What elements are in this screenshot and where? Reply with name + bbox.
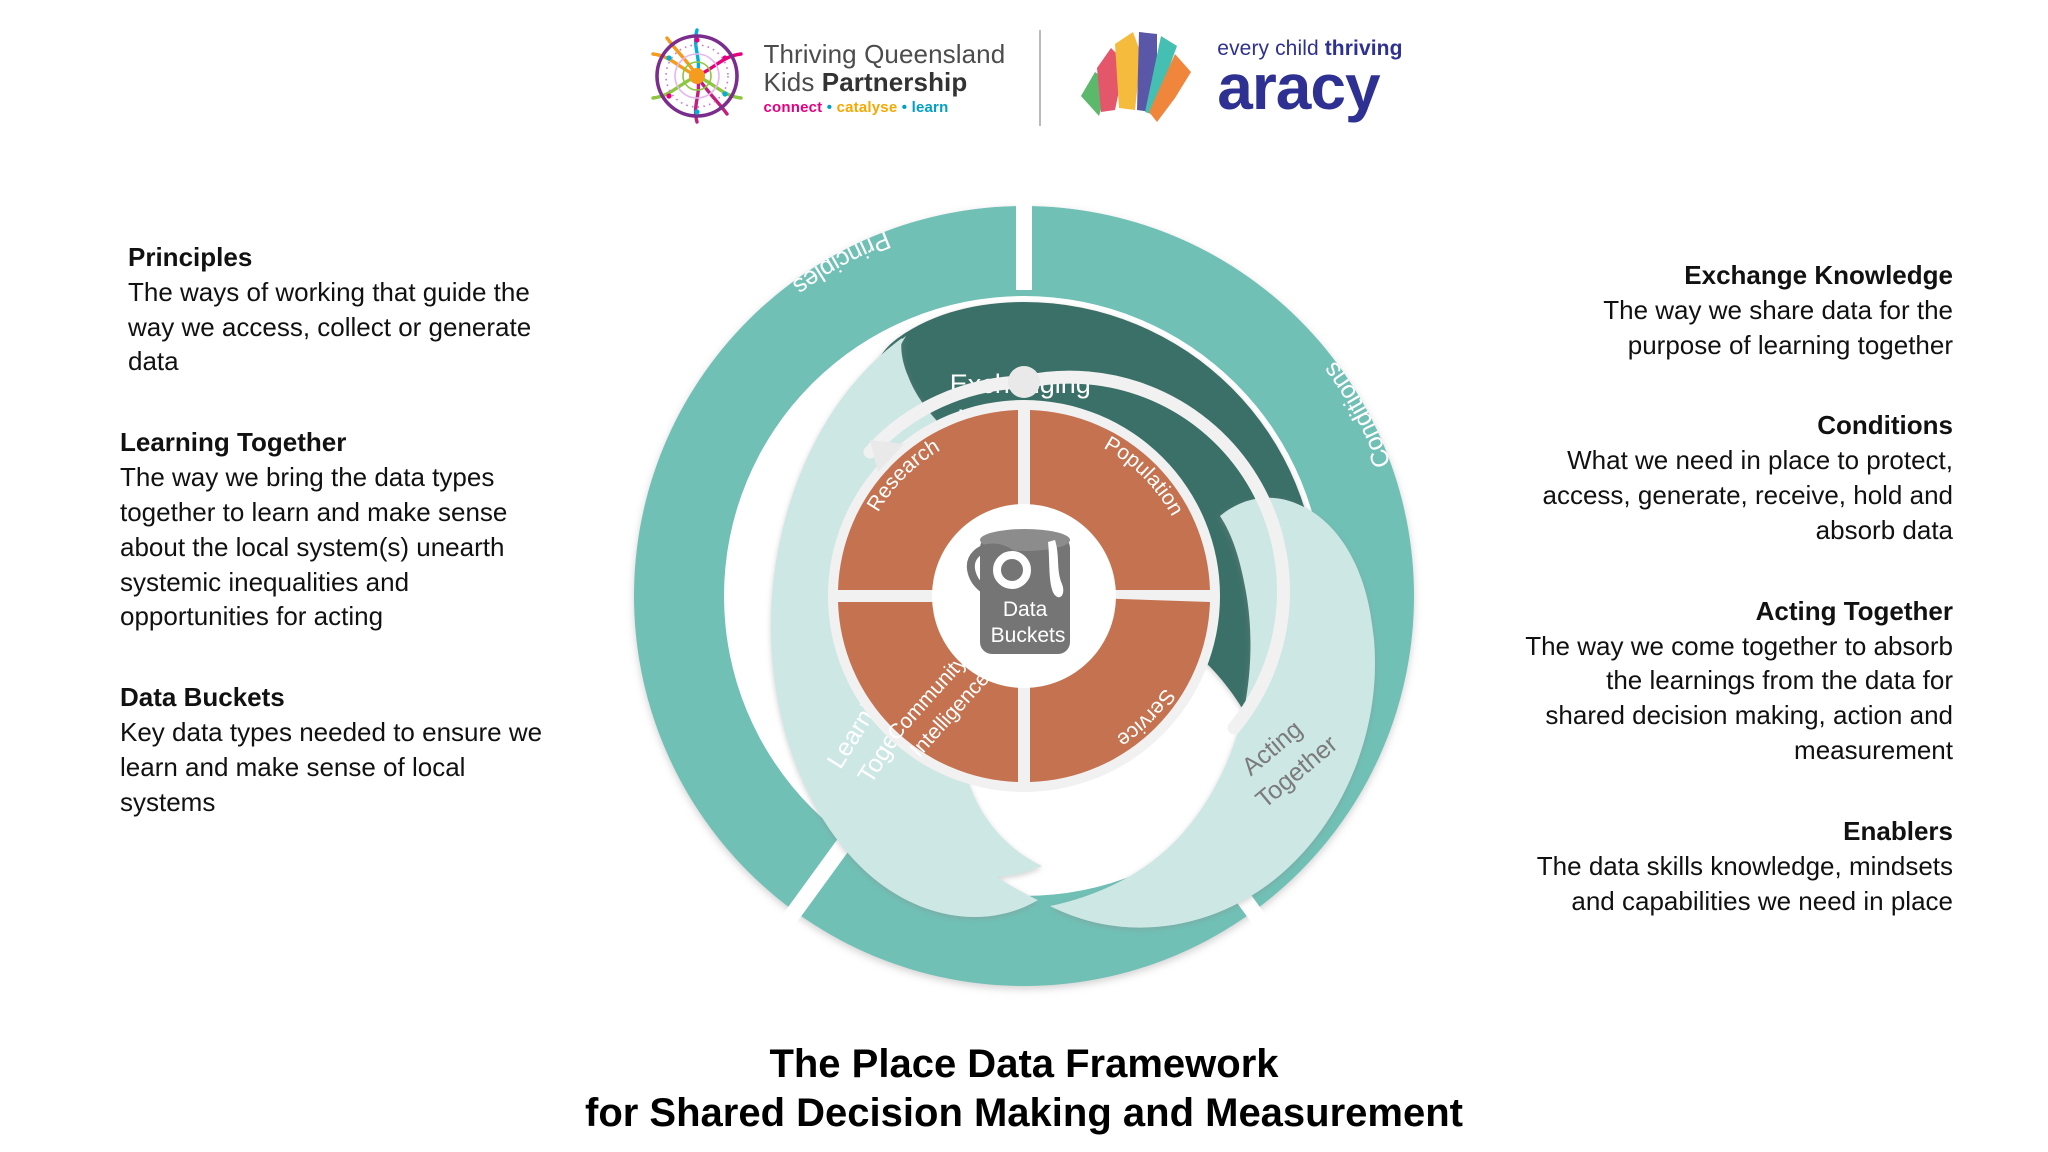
tqkp-mandala-logo-icon <box>645 24 749 133</box>
page-title-line2: for Shared Decision Making and Measureme… <box>0 1089 2048 1138</box>
description-heading: Data Buckets <box>120 680 550 715</box>
description-block-enablers: Enablers The data skills knowledge, mind… <box>1523 814 1953 918</box>
logo-bar: Thriving Queensland Kids Partnership con… <box>0 18 2048 138</box>
description-heading: Exchange Knowledge <box>1523 258 1953 293</box>
description-block-conditions: Conditions What we need in place to prot… <box>1523 408 1953 547</box>
description-heading: Acting Together <box>1523 594 1953 629</box>
description-body: The data skills knowledge, mindsets and … <box>1523 849 1953 919</box>
outer-label-enablers: Enablers <box>974 1008 1074 1039</box>
description-block-learning-together: Learning Together The way we bring the d… <box>120 425 550 634</box>
aracy-wordmark: aracy <box>1217 55 1402 119</box>
description-body: The way we share data for the purpose of… <box>1523 293 1953 363</box>
description-heading: Enablers <box>1523 814 1953 849</box>
page-title: The Place Data Framework for Shared Deci… <box>0 1040 2048 1138</box>
paint-bucket-icon: Data Buckets <box>971 529 1070 654</box>
logo-divider <box>1039 30 1041 126</box>
description-block-exchange-knowledge: Exchange Knowledge The way we share data… <box>1523 258 1953 362</box>
description-body: What we need in place to protect, access… <box>1523 443 1953 547</box>
description-body: The way we come together to absorb the l… <box>1523 629 1953 768</box>
description-body: The ways of working that guide the way w… <box>120 275 550 379</box>
aracy-logo: every child thriving aracy <box>1075 24 1402 133</box>
description-block-data-buckets: Data Buckets Key data types needed to en… <box>120 680 550 819</box>
description-body: The way we bring the data types together… <box>120 460 550 634</box>
description-block-principles: Principles The ways of working that guid… <box>120 240 550 379</box>
tqkp-title-line2: Kids Partnership <box>763 68 1005 96</box>
cycle-arrow-node <box>1008 366 1040 398</box>
page-title-line1: The Place Data Framework <box>0 1040 2048 1089</box>
left-description-column: Principles The ways of working that guid… <box>120 240 550 866</box>
description-block-acting-together: Acting Together The way we come together… <box>1523 594 1953 768</box>
tqkp-logo: Thriving Queensland Kids Partnership con… <box>645 24 1005 133</box>
description-body: Key data types needed to ensure we learn… <box>120 715 550 819</box>
tqkp-tagline: connect • catalyse • learn <box>763 100 1005 116</box>
description-heading: Principles <box>120 240 550 275</box>
description-heading: Conditions <box>1523 408 1953 443</box>
aracy-fan-logo-icon <box>1075 24 1201 133</box>
tqkp-title-line1: Thriving Queensland <box>763 40 1005 68</box>
place-data-framework-diagram: Principles Conditions Enablers Exchangin… <box>568 140 1480 1052</box>
right-description-column: Exchange Knowledge The way we share data… <box>1523 258 1953 964</box>
description-heading: Learning Together <box>120 425 550 460</box>
